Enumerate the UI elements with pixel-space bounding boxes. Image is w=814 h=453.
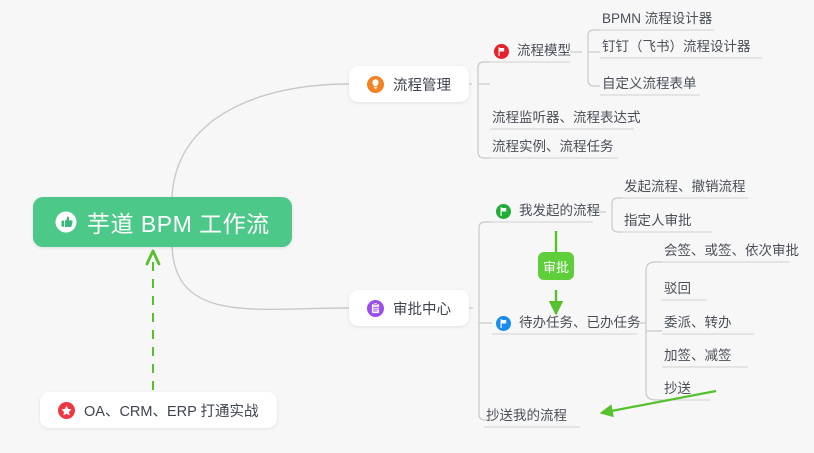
approval-flow-badge[interactable]: 审批 <box>538 252 574 280</box>
branch-node-approval-center[interactable]: 审批中心 <box>349 290 469 326</box>
wire-root-to-approval-center <box>172 246 349 309</box>
flow-arrow-cc-to-ccme <box>601 391 716 413</box>
node-reject[interactable]: 驳回 <box>664 274 691 300</box>
label-custom-process-form: 自定义流程表单 <box>602 76 697 92</box>
label-todo-done-task: 待办任务、已办任务 <box>519 315 641 331</box>
flag-green-icon <box>496 204 511 219</box>
node-todo-done-task[interactable]: 待办任务、已办任务 <box>496 308 641 334</box>
label-listener-expression: 流程监听器、流程表达式 <box>492 110 641 126</box>
label-bpmn-designer: BPMN 流程设计器 <box>602 11 712 27</box>
node-dingtalk-feishu-designer[interactable]: 钉钉（飞书）流程设计器 <box>602 32 751 58</box>
node-cc-to-me-process[interactable]: 抄送我的流程 <box>486 401 567 427</box>
node-listener-expression[interactable]: 流程监听器、流程表达式 <box>492 103 641 129</box>
label-cc-to-me-process: 抄送我的流程 <box>486 408 567 424</box>
wire-ac-bracket <box>479 222 492 420</box>
floating-note-node[interactable]: OA、CRM、ERP 打通实战 <box>40 392 277 428</box>
label-dingtalk-feishu-designer: 钉钉（飞书）流程设计器 <box>602 39 751 55</box>
branch-label-process-management: 流程管理 <box>393 74 451 95</box>
label-assigned-approver: 指定人审批 <box>624 213 692 229</box>
root-label: 芋道 BPM 工作流 <box>87 205 270 239</box>
branch-label-approval-center: 审批中心 <box>393 298 451 319</box>
label-my-started-process: 我发起的流程 <box>519 203 600 219</box>
node-cc[interactable]: 抄送 <box>664 374 691 400</box>
label-start-cancel-process: 发起流程、撤销流程 <box>624 179 746 195</box>
wire-pmodel-bracket <box>588 30 600 86</box>
wire-pm-bracket <box>478 62 490 158</box>
label-add-remove-sign: 加签、减签 <box>664 348 732 364</box>
node-instance-task[interactable]: 流程实例、流程任务 <box>492 132 614 158</box>
lightbulb-icon <box>367 76 384 93</box>
node-add-remove-sign[interactable]: 加签、减签 <box>664 341 732 367</box>
approval-flow-badge-label: 审批 <box>543 257 569 276</box>
clipboard-icon <box>367 300 384 317</box>
wire-root-to-process-management <box>172 84 349 198</box>
label-reject: 驳回 <box>664 281 691 297</box>
branch-node-process-management[interactable]: 流程管理 <box>349 66 469 102</box>
node-my-started-process[interactable]: 我发起的流程 <box>496 196 600 222</box>
root-node[interactable]: 芋道 BPM 工作流 <box>33 197 292 247</box>
label-process-model: 流程模型 <box>517 43 571 59</box>
node-delegate-transfer[interactable]: 委派、转办 <box>664 308 732 334</box>
flag-blue-icon <box>496 316 511 331</box>
node-multi-sign[interactable]: 会签、或签、依次审批 <box>664 236 799 262</box>
mindmap-canvas: 芋道 BPM 工作流 流程管理 流程模型 BPMN 流程设计器 钉 <box>0 0 814 453</box>
floating-note-label: OA、CRM、ERP 打通实战 <box>84 400 259 421</box>
node-bpmn-designer[interactable]: BPMN 流程设计器 <box>602 4 712 30</box>
node-custom-process-form[interactable]: 自定义流程表单 <box>602 69 697 95</box>
wire-todo-bracket <box>646 262 662 400</box>
node-start-cancel-process[interactable]: 发起流程、撤销流程 <box>624 172 746 198</box>
label-multi-sign: 会签、或签、依次审批 <box>664 243 799 259</box>
thumbs-up-icon <box>55 211 77 233</box>
label-cc: 抄送 <box>664 381 691 397</box>
flag-red-icon <box>494 44 509 59</box>
wire-started-bracket <box>612 198 622 232</box>
label-delegate-transfer: 委派、转办 <box>664 315 732 331</box>
node-process-model[interactable]: 流程模型 <box>494 36 571 62</box>
node-assigned-approver[interactable]: 指定人审批 <box>624 206 692 232</box>
star-icon <box>58 402 75 419</box>
label-instance-task: 流程实例、流程任务 <box>492 139 614 155</box>
